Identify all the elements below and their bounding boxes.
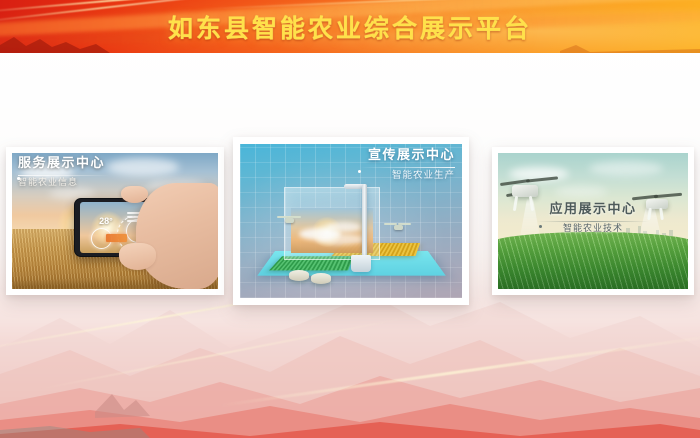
card-service-text: 服务展示中心 智能农业信息 bbox=[18, 157, 110, 189]
drone-rotor bbox=[526, 176, 558, 182]
card-application-title: 应用展示中心 bbox=[492, 203, 694, 217]
accent-dot bbox=[539, 225, 542, 228]
card-application-subtitle: 智能农业技术 bbox=[492, 225, 694, 235]
divider bbox=[537, 221, 649, 222]
weather-temperature: 28° bbox=[99, 216, 113, 226]
hay-bale bbox=[289, 270, 309, 281]
card-service-subtitle: 智能农业信息 bbox=[18, 179, 110, 189]
field-row-texture bbox=[498, 232, 688, 289]
sky-image-inside-glass bbox=[291, 208, 373, 253]
drone-body bbox=[285, 218, 294, 223]
finger bbox=[119, 243, 156, 270]
page-title: 如东县智能农业综合展示平台 bbox=[0, 0, 700, 53]
card-promotion-title: 宣传展示中心 bbox=[359, 149, 455, 163]
card-service-title: 服务展示中心 bbox=[18, 157, 110, 171]
lamp-pole bbox=[362, 184, 367, 261]
green-crop-field bbox=[498, 232, 688, 289]
card-promotion-subtitle: 智能农业生产 bbox=[359, 171, 455, 181]
header-banner: 如东县智能农业综合展示平台 bbox=[0, 0, 700, 53]
cloud bbox=[327, 222, 361, 232]
card-promotion-text: 宣传展示中心 智能农业生产 bbox=[359, 149, 455, 182]
screen-highlight-bar bbox=[106, 234, 127, 242]
drone-icon bbox=[387, 221, 409, 233]
cloud bbox=[555, 186, 607, 197]
drone-icon bbox=[280, 215, 298, 225]
app-stage: 如东县智能农业综合展示平台 28° bbox=[0, 0, 700, 438]
drone-rotor bbox=[654, 193, 682, 198]
divider bbox=[18, 175, 110, 176]
card-application[interactable]: 应用展示中心 智能农业技术 bbox=[492, 147, 694, 295]
card-promotion[interactable]: 宣传展示中心 智能农业生产 bbox=[233, 137, 469, 305]
accent-dot bbox=[358, 170, 361, 173]
drone-body bbox=[394, 225, 403, 230]
accent-dot bbox=[17, 177, 20, 180]
divider bbox=[359, 167, 455, 168]
storage-tank bbox=[351, 255, 371, 272]
hay-bale bbox=[311, 273, 331, 284]
card-application-text: 应用展示中心 智能农业技术 bbox=[492, 203, 694, 235]
card-service[interactable]: 28° 服务展示中心 智能农业信息 bbox=[6, 147, 224, 295]
